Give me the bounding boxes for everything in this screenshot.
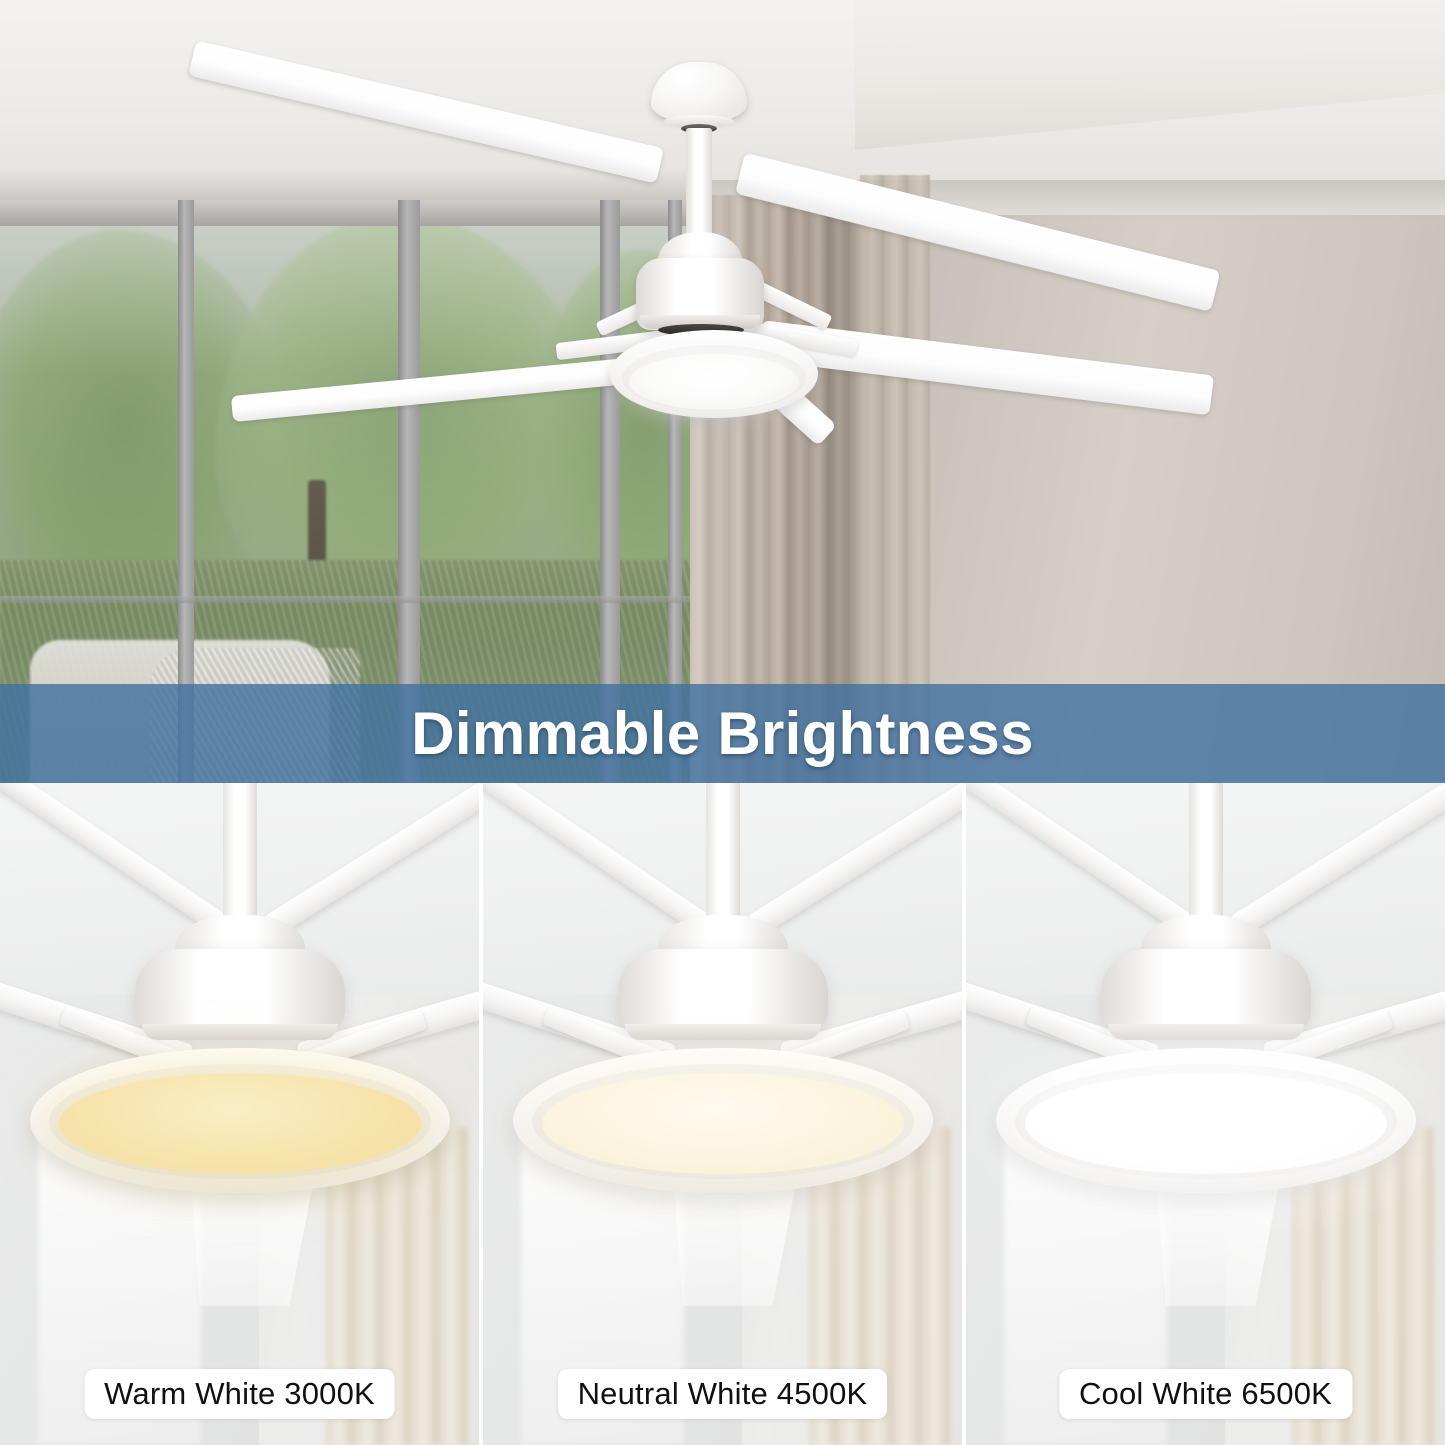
brightness-dimmer-control[interactable]: + 10% 100% xyxy=(0,505,1445,645)
feature-banner: Dimmable Brightness xyxy=(0,684,1445,783)
panel-neutral-white: Neutral White 4500K xyxy=(479,783,962,1445)
fan-light-lens xyxy=(629,354,799,410)
fan-blade-upper-left xyxy=(188,40,664,183)
color-temperature-panels: Warm White 3000K Neutral White 4500K xyxy=(0,783,1445,1445)
panel-cool-white: Cool White 6500K xyxy=(962,783,1445,1445)
fan-downrod xyxy=(686,128,712,243)
fan-canopy xyxy=(651,62,747,122)
fan-motor-band xyxy=(142,1024,338,1040)
color-temperature-label: Warm White 3000K xyxy=(84,1369,395,1419)
fan-motor-housing xyxy=(135,949,345,1032)
fan-downrod xyxy=(706,783,740,929)
fan-motor-band xyxy=(1108,1024,1304,1040)
fan-light-lens xyxy=(1025,1073,1387,1174)
color-temperature-label: Neutral White 4500K xyxy=(558,1369,888,1419)
banner-title: Dimmable Brightness xyxy=(411,699,1034,768)
product-feature-image: + 10% 100% Dimmable Brightness xyxy=(0,0,1445,1445)
fan-light-lens xyxy=(542,1073,904,1174)
hero-room-scene: + 10% 100% Dimmable Brightness xyxy=(0,0,1445,783)
ceiling-fan xyxy=(0,0,1445,783)
fan-downrod xyxy=(1189,783,1223,929)
panel-warm-white: Warm White 3000K xyxy=(0,783,479,1445)
fan-motor-band xyxy=(625,1024,821,1040)
fan-motor-housing xyxy=(1101,949,1311,1032)
fan-downrod xyxy=(223,783,257,929)
fan-motor-housing xyxy=(618,949,828,1032)
fan-blade-upper-right xyxy=(735,153,1221,312)
color-temperature-label: Cool White 6500K xyxy=(1059,1369,1352,1419)
fan-light-lens xyxy=(59,1073,421,1174)
